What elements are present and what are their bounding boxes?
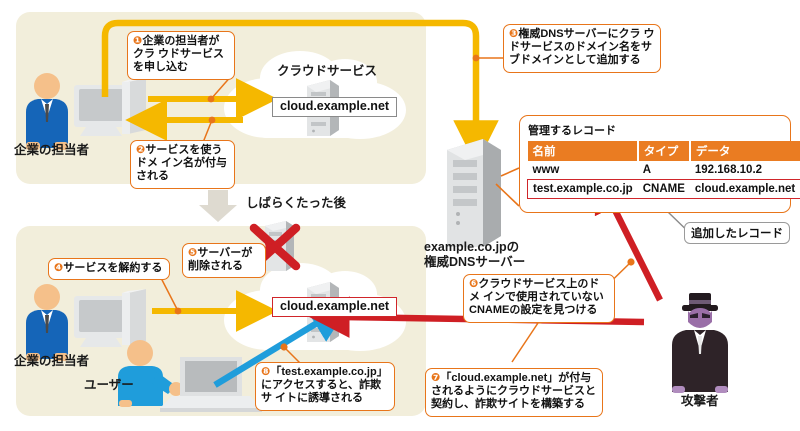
authoritative-dns-server-icon	[447, 139, 501, 247]
callout-3-text: 権威DNSサーバーにクラ ウドサービスのドメイン名をサ ブドメインとして追加する	[509, 28, 655, 66]
callout-2-number: ❷	[136, 144, 145, 156]
cloud-domain-label-bottom: cloud.example.net	[272, 297, 397, 317]
callout-6: ❻クラウドサービス上のドメ インで使用されていない CNAMEの設定を見つける	[463, 274, 615, 323]
record-type: A	[638, 161, 690, 180]
user-label: ユーザー	[84, 378, 134, 393]
callout-1-text: 企業の担当者がクラ ウドサービスを申し込む	[133, 35, 224, 73]
leader-dot-callout-6	[627, 258, 634, 265]
record-data: 192.168.10.2	[690, 161, 800, 180]
record-type: CNAME	[638, 180, 690, 199]
record-name: test.example.co.jp	[528, 180, 638, 199]
table-header-row: 名前 タイプ データ	[528, 141, 800, 161]
callout-1-number: ❶	[133, 35, 142, 47]
cloud-service-label: クラウドサービス	[277, 64, 377, 79]
callout-6-number: ❻	[469, 278, 478, 290]
attacker-figure	[672, 293, 728, 393]
callout-2-text: サービスを使うドメ イン名が付与される	[136, 144, 227, 182]
callout-7-text: 「cloud.example.net」が付与 されるようにクラウドサービスと 契…	[431, 372, 596, 410]
column-header-data: データ	[690, 141, 800, 161]
callout-5: ❺サーバーが 削除される	[182, 243, 266, 278]
attacker-label: 攻撃者	[681, 394, 719, 409]
table-row-highlighted: test.example.co.jp CNAME cloud.example.n…	[528, 180, 800, 199]
callout-2: ❷サービスを使うドメ イン名が付与される	[130, 140, 235, 189]
managed-records-card: 管理するレコード 名前 タイプ データ www A 192.168.10.2 t…	[519, 115, 791, 213]
callout-3-number: ❸	[509, 28, 518, 40]
callout-5-number: ❺	[188, 247, 197, 259]
column-header-type: タイプ	[638, 141, 690, 161]
callout-7-number: ❼	[431, 372, 440, 384]
record-data: cloud.example.net	[690, 180, 800, 199]
column-header-name: 名前	[528, 141, 638, 161]
added-record-note: 追加したレコード	[684, 222, 790, 244]
callout-1: ❶企業の担当者がクラ ウドサービスを申し込む	[127, 31, 235, 80]
callout-6-text: クラウドサービス上のドメ インで使用されていない CNAMEの設定を見つける	[469, 278, 604, 316]
time-passes-arrow	[199, 190, 237, 222]
leader-line-record-bottom	[496, 184, 519, 206]
callout-4-text: サービスを解約する	[63, 262, 162, 274]
callout-8-number: ❽	[261, 366, 270, 378]
record-name: www	[528, 161, 638, 180]
callout-4-number: ❹	[54, 262, 63, 274]
employee-label-top: 企業の担当者	[14, 143, 89, 158]
record-card-title: 管理するレコード	[528, 122, 783, 138]
employee-label-bottom: 企業の担当者	[14, 354, 89, 369]
dns-records-table: 名前 タイプ データ www A 192.168.10.2 test.examp…	[527, 141, 800, 199]
leader-dot-callout-3	[473, 55, 480, 62]
time-passes-label: しばらくたった後	[246, 196, 346, 211]
leader-line-callout-7	[512, 320, 540, 362]
callout-3: ❸権威DNSサーバーにクラ ウドサービスのドメイン名をサ ブドメインとして追加す…	[503, 24, 661, 73]
callout-4: ❹サービスを解約する	[48, 258, 170, 280]
callout-7: ❼「cloud.example.net」が付与 されるようにクラウドサービスと …	[425, 368, 603, 417]
callout-5-text: サーバーが 削除される	[188, 247, 252, 272]
table-row: www A 192.168.10.2	[528, 161, 800, 180]
callout-8: ❽「test.example.co.jp」 にアクセスすると、詐欺サ イトに誘導…	[255, 362, 395, 411]
cloud-domain-label-top: cloud.example.net	[272, 97, 397, 117]
callout-8-text: 「test.example.co.jp」 にアクセスすると、詐欺サ イトに誘導さ…	[261, 366, 388, 404]
attack-arrow-find-cname	[610, 200, 660, 300]
leader-line-record-top	[501, 168, 519, 176]
diagram-canvas: 企業の担当者 クラウドサービス cloud.example.net しばらくたっ…	[0, 0, 800, 431]
dns-server-label: example.co.jpの 権威DNSサーバー	[424, 240, 525, 270]
